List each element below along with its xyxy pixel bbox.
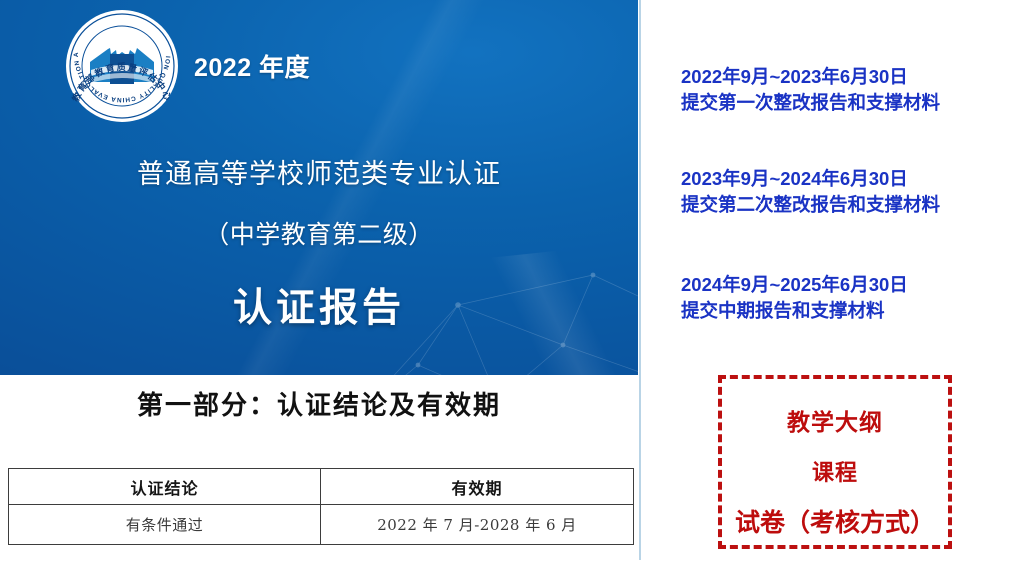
note-block-midterm-report: 2024年9月~2025年6月30日 提交中期报告和支撑材料 [681, 272, 908, 323]
note-block-first-rectification: 2022年9月~2023年6月30日 提交第一次整改报告和支撑材料 [681, 64, 940, 115]
callout-item-course: 课程 [722, 455, 948, 487]
table-header-conclusion: 认证结论 [9, 469, 321, 505]
table-cell-conclusion: 有条件通过 [9, 505, 321, 545]
red-dashed-callout-box: 教学大纲 课程 试卷（考核方式） [718, 375, 952, 549]
table-header-row: 认证结论 有效期 [9, 469, 634, 505]
note-line-task: 提交第一次整改报告和支撑材料 [681, 90, 940, 116]
certification-result-table: 认证结论 有效期 有条件通过 2022 年 7 月-2028 年 6 月 [8, 468, 634, 545]
cover-title-sub: （中学教育第二级） [0, 215, 638, 251]
cover-title-main: 普通高等学校师范类专业认证 [0, 152, 638, 191]
document-screenshot-panel: 教育部教育质量评估中心 EDUCATION QUALITY CHINA EVAL… [0, 0, 641, 579]
note-line-task: 提交第二次整改报告和支撑材料 [681, 192, 940, 218]
table-cell-validity: 2022 年 7 月-2028 年 6 月 [321, 505, 634, 545]
agency-seal-logo-icon: 教育部教育质量评估中心 EDUCATION QUALITY CHINA EVAL… [64, 8, 180, 124]
note-line-period: 2024年9月~2025年6月30日 [681, 272, 908, 298]
callout-item-syllabus: 教学大纲 [722, 403, 948, 437]
brand-row: 教育部教育质量评估中心 EDUCATION QUALITY CHINA EVAL… [64, 8, 310, 124]
table-row: 有条件通过 2022 年 7 月-2028 年 6 月 [9, 505, 634, 545]
note-block-second-rectification: 2023年9月~2024年6月30日 提交第二次整改报告和支撑材料 [681, 166, 940, 217]
annotation-column: 2022年9月~2023年6月30日 提交第一次整改报告和支撑材料 2023年9… [641, 0, 1019, 579]
document-body: 第一部分：认证结论及有效期 认证结论 有效期 有条件通过 2022 年 7 月-… [0, 375, 638, 579]
cover-year-label: 2022 年度 [194, 48, 310, 84]
report-cover-hero: 教育部教育质量评估中心 EDUCATION QUALITY CHINA EVAL… [0, 0, 638, 375]
note-line-task: 提交中期报告和支撑材料 [681, 298, 908, 324]
note-line-period: 2023年9月~2024年6月30日 [681, 166, 940, 192]
cover-title-report: 认证报告 [0, 277, 638, 333]
section-heading: 第一部分：认证结论及有效期 [0, 385, 638, 422]
table-header-validity: 有效期 [321, 469, 634, 505]
cover-title-block: 普通高等学校师范类专业认证 （中学教育第二级） 认证报告 [0, 152, 638, 333]
note-line-period: 2022年9月~2023年6月30日 [681, 64, 940, 90]
callout-item-exam-paper: 试卷（考核方式） [722, 503, 948, 539]
